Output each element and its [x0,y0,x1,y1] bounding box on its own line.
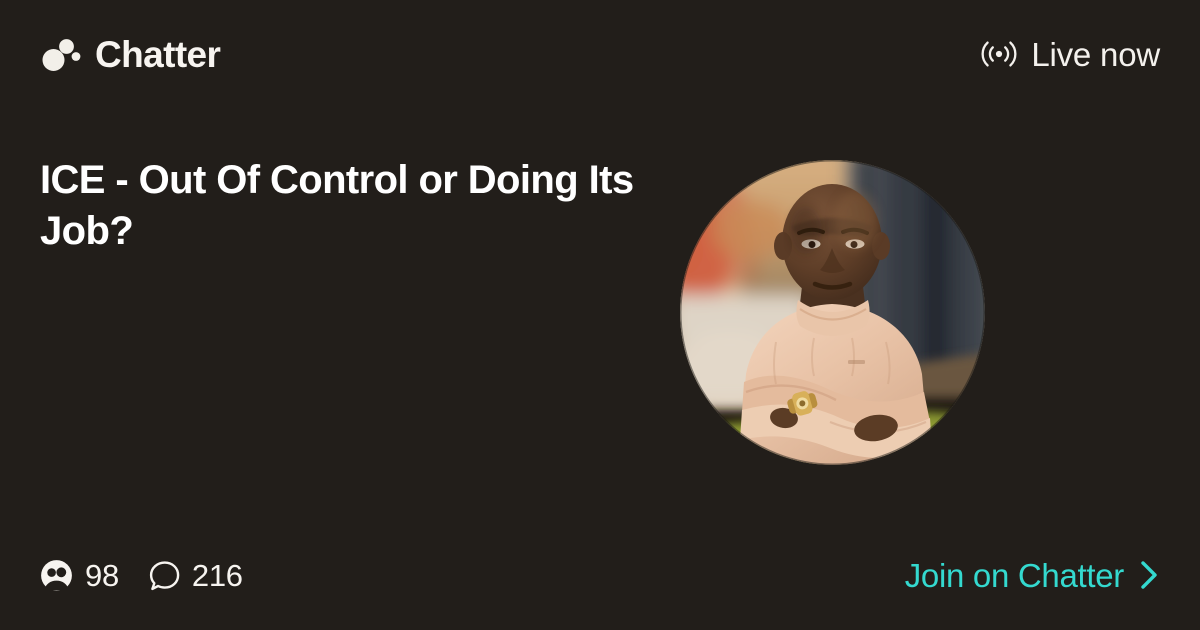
live-status-badge: Live now [979,37,1160,71]
chevron-right-icon [1138,559,1160,591]
join-on-chatter-button[interactable]: Join on Chatter [905,559,1160,592]
broadcast-icon [979,37,1019,71]
card-footer: 98 216 Join on Chatter [0,520,1200,630]
host-avatar [680,160,985,465]
comment-bubble-icon [149,560,180,591]
avatar-container [680,108,985,465]
chatter-bubbles-icon [40,33,82,75]
brand-name: Chatter [95,36,220,73]
participants-stat: 98 [40,559,119,592]
card-header: Chatter Live now [0,0,1200,108]
brand-lockup[interactable]: Chatter [40,33,220,75]
room-title: ICE - Out Of Control or Doing Its Job? [40,155,650,257]
comments-count: 216 [192,560,243,591]
participants-count: 98 [85,560,119,591]
title-container: ICE - Out Of Control or Doing Its Job? [40,108,680,257]
participants-icon [40,559,73,592]
card-body: ICE - Out Of Control or Doing Its Job? [0,108,1200,520]
chatter-live-share-card: Chatter Live now ICE - Out Of Control or… [0,0,1200,630]
join-on-chatter-label: Join on Chatter [905,559,1124,592]
stats-group: 98 216 [40,559,243,592]
comments-stat: 216 [149,560,243,591]
live-status-label: Live now [1031,38,1160,71]
